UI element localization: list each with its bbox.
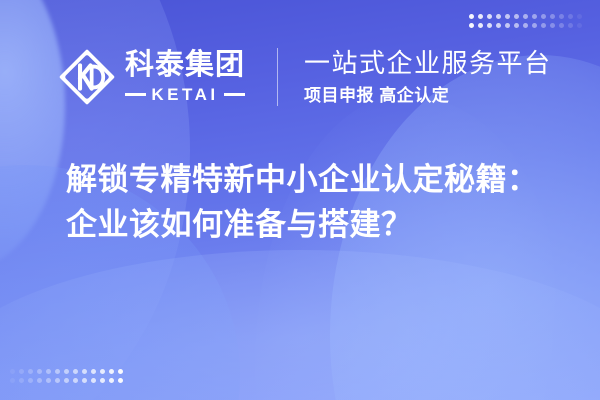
headline-line-1: 解锁专精特新中小企业认定秘籍： bbox=[66, 158, 576, 203]
dot bbox=[514, 14, 519, 19]
background-blob-left-top bbox=[0, 0, 65, 270]
dot bbox=[532, 23, 537, 28]
dot bbox=[478, 23, 483, 28]
dot bbox=[55, 378, 60, 383]
dot bbox=[541, 23, 546, 28]
brand-wordmark: 科泰集团 KETAI bbox=[125, 51, 245, 103]
dot-grid-icon-bottom-left bbox=[10, 369, 123, 383]
dot bbox=[559, 23, 564, 28]
dot bbox=[73, 369, 78, 374]
dot bbox=[523, 23, 528, 28]
dot-row bbox=[469, 14, 582, 19]
dot-row bbox=[10, 378, 123, 383]
dot bbox=[73, 378, 78, 383]
dot bbox=[46, 378, 51, 383]
dot bbox=[505, 14, 510, 19]
dot bbox=[91, 369, 96, 374]
dot bbox=[64, 369, 69, 374]
dot bbox=[505, 23, 510, 28]
tagline-block: 一站式企业服务平台 项目申报 高企认定 bbox=[304, 48, 552, 106]
dot bbox=[568, 14, 573, 19]
dot bbox=[100, 378, 105, 383]
background-blob-bottom-wide bbox=[0, 250, 600, 400]
dot bbox=[109, 369, 114, 374]
dot bbox=[82, 369, 87, 374]
dot bbox=[469, 14, 474, 19]
dot bbox=[550, 14, 555, 19]
dot bbox=[118, 378, 123, 383]
dot bbox=[514, 23, 519, 28]
headline-line-2: 企业该如何准备与搭建？ bbox=[66, 203, 576, 248]
dot bbox=[64, 378, 69, 383]
dot bbox=[496, 14, 501, 19]
banner-header: 科泰集团 KETAI 一站式企业服务平台 项目申报 高企认定 bbox=[58, 42, 552, 112]
dot bbox=[109, 378, 114, 383]
vertical-divider-icon bbox=[277, 48, 278, 106]
dot bbox=[82, 378, 87, 383]
dot bbox=[19, 378, 24, 383]
dot bbox=[55, 369, 60, 374]
dot bbox=[469, 23, 474, 28]
dot bbox=[478, 14, 483, 19]
headline: 解锁专精特新中小企业认定秘籍： 企业该如何准备与搭建？ bbox=[66, 158, 576, 248]
dot-grid-icon-top-right bbox=[469, 14, 582, 28]
dot bbox=[550, 23, 555, 28]
dot bbox=[577, 14, 582, 19]
dot bbox=[118, 369, 123, 374]
dot bbox=[568, 23, 573, 28]
logo-dash-right-icon bbox=[224, 93, 245, 96]
dot bbox=[28, 378, 33, 383]
dot bbox=[496, 23, 501, 28]
dot bbox=[487, 23, 492, 28]
brand-name-en-row: KETAI bbox=[125, 86, 245, 103]
dot bbox=[541, 14, 546, 19]
logo-dash-left-icon bbox=[125, 93, 146, 96]
tagline-main: 一站式企业服务平台 bbox=[304, 48, 552, 79]
dot bbox=[523, 14, 528, 19]
dot bbox=[37, 378, 42, 383]
dot bbox=[46, 369, 51, 374]
dot bbox=[100, 369, 105, 374]
dot-row bbox=[469, 23, 582, 28]
brand-name-cn: 科泰集团 bbox=[125, 51, 245, 80]
dot bbox=[487, 14, 492, 19]
dot-row bbox=[10, 369, 123, 374]
dot bbox=[532, 14, 537, 19]
dot bbox=[37, 369, 42, 374]
dot bbox=[10, 378, 15, 383]
brand-logo: 科泰集团 KETAI bbox=[58, 48, 245, 106]
dot bbox=[577, 23, 582, 28]
dot bbox=[10, 369, 15, 374]
dot bbox=[91, 378, 96, 383]
dot bbox=[28, 369, 33, 374]
promo-banner: 科泰集团 KETAI 一站式企业服务平台 项目申报 高企认定 解锁专精特新中小企… bbox=[0, 0, 600, 400]
tagline-sub: 项目申报 高企认定 bbox=[304, 86, 552, 106]
dot bbox=[19, 369, 24, 374]
dot bbox=[559, 14, 564, 19]
ketai-diamond-monogram-icon bbox=[58, 48, 116, 106]
brand-name-en: KETAI bbox=[151, 86, 218, 103]
